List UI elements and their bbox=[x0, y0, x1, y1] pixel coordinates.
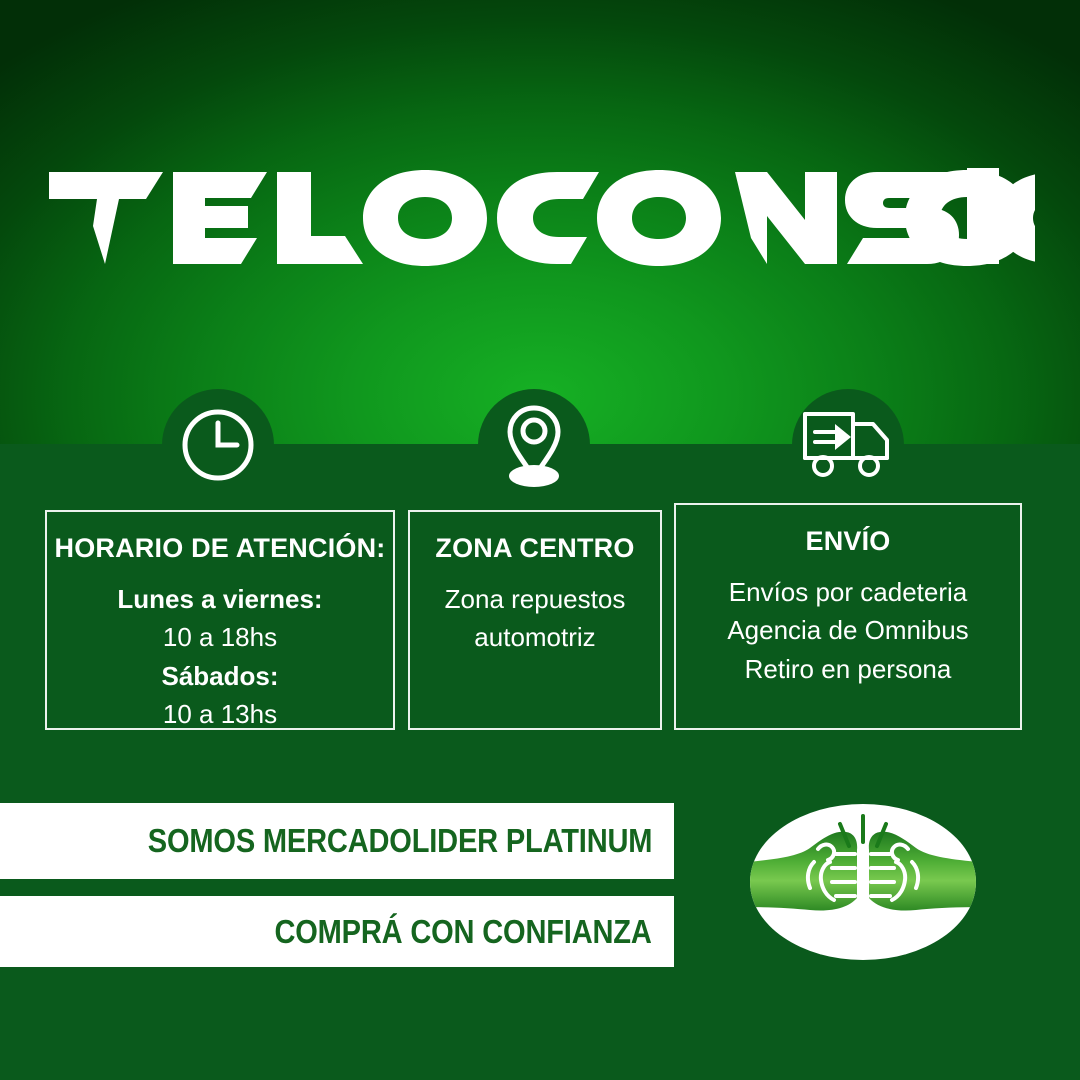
banner-text: SOMOS MERCADOLIDER PLATINUM bbox=[147, 822, 652, 860]
info-card-line: 10 a 13hs bbox=[47, 695, 393, 733]
info-card-zona: ZONA CENTRO Zona repuestos automotriz bbox=[408, 510, 662, 730]
info-card-line: Agencia de Omnibus bbox=[676, 611, 1020, 649]
info-card-line: Retiro en persona bbox=[676, 650, 1020, 688]
location-pin-icon bbox=[479, 390, 589, 500]
info-card-line: 10 a 18hs bbox=[47, 618, 393, 656]
delivery-truck-icon bbox=[793, 390, 903, 500]
info-card-title: ZONA CENTRO bbox=[410, 532, 660, 566]
brand-wordmark-telconsigo: TELOCONSIGO bbox=[45, 168, 1035, 268]
info-card-envio: ENVÍO Envíos por cadeteria Agencia de Om… bbox=[674, 503, 1022, 730]
info-card-line: Zona repuestos bbox=[410, 580, 660, 618]
brand-logo: TELOCONSIGO bbox=[0, 168, 1080, 268]
info-card-horario: HORARIO DE ATENCIÓN: Lunes a viernes: 10… bbox=[45, 510, 395, 730]
info-card-line: Envíos por cadeteria bbox=[676, 573, 1020, 611]
banner-mercadolider: SOMOS MERCADOLIDER PLATINUM bbox=[0, 803, 674, 879]
info-card-title: ENVÍO bbox=[676, 525, 1020, 559]
info-card-line: Sábados: bbox=[47, 657, 393, 695]
banner-text: COMPRÁ CON CONFIANZA bbox=[275, 913, 652, 951]
banner-confianza: COMPRÁ CON CONFIANZA bbox=[0, 896, 674, 967]
clock-icon bbox=[163, 390, 273, 500]
info-card-line: Lunes a viernes: bbox=[47, 580, 393, 618]
fist-bump-icon bbox=[748, 802, 978, 962]
promo-banner-canvas: TELOCONSIGO bbox=[0, 0, 1080, 1080]
info-card-title: HORARIO DE ATENCIÓN: bbox=[47, 532, 393, 566]
info-card-line: automotriz bbox=[410, 618, 660, 656]
